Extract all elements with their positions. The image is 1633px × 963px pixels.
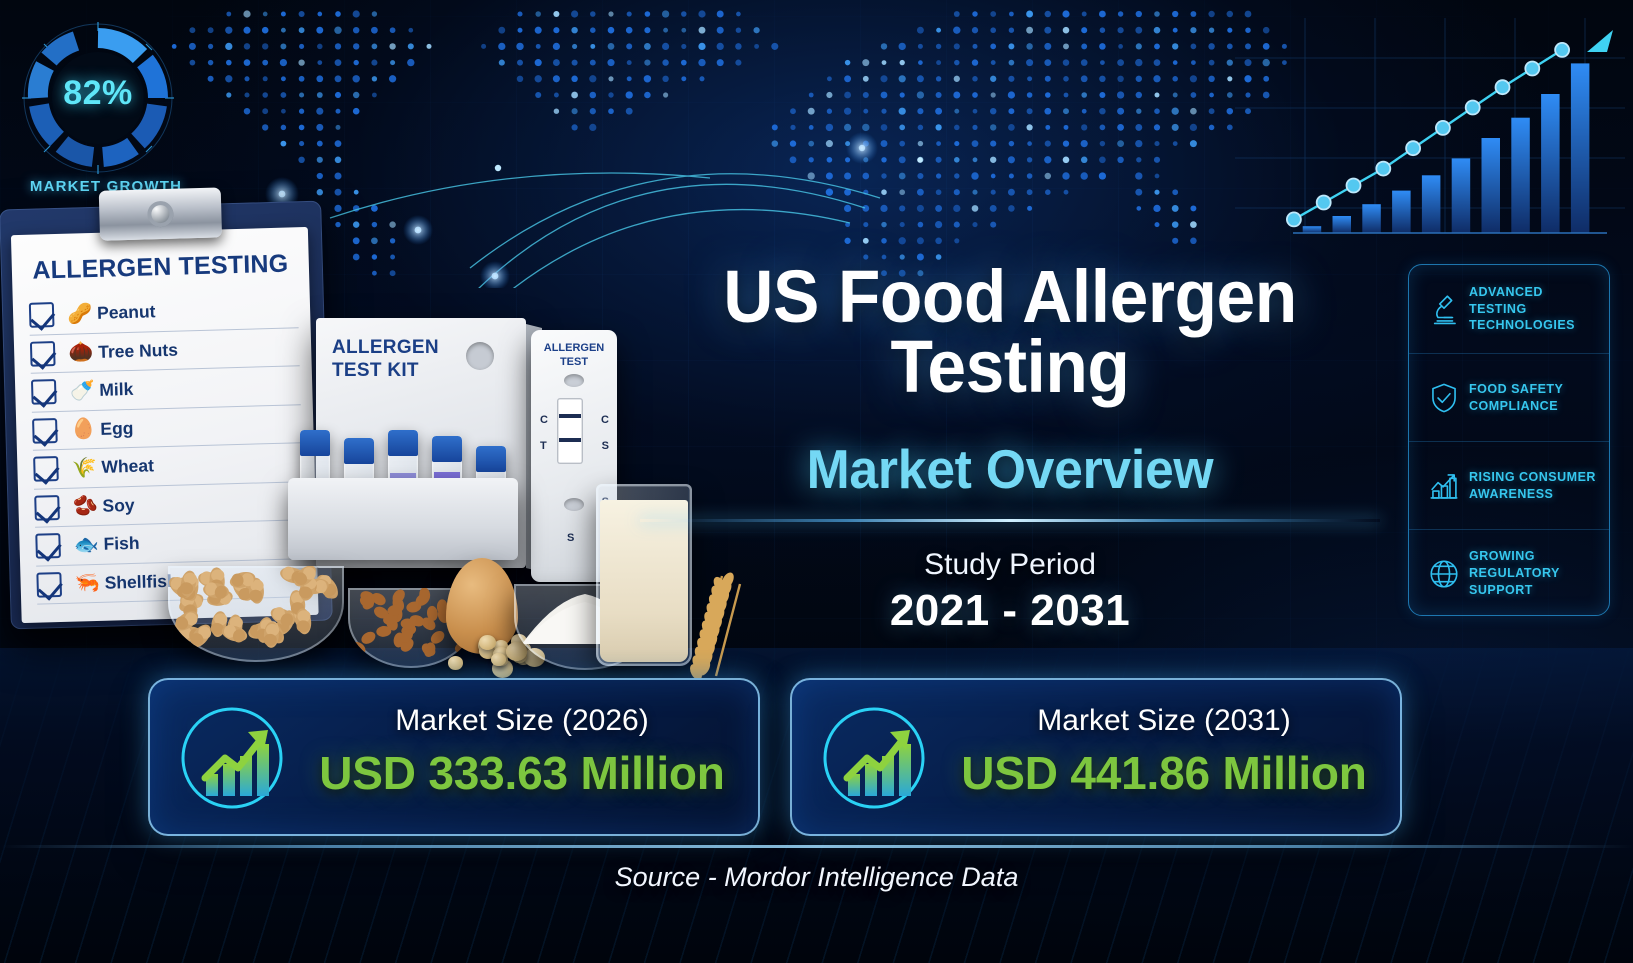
checkbox-checked-icon[interactable] — [35, 533, 61, 559]
page-title: US Food Allergen Testing — [681, 262, 1339, 403]
market-size-card-2031[interactable]: Market Size (2031) USD 441.86 Million — [790, 678, 1402, 836]
growth-chart-icon — [1419, 469, 1469, 503]
feature-item-1[interactable]: ADVANCED TESTING TECHNOLOGIES — [1409, 265, 1609, 353]
checkbox-checked-icon[interactable] — [33, 456, 59, 482]
shellfish-icon: 🦐 — [70, 573, 105, 594]
shield-check-icon — [1419, 381, 1469, 415]
soybean — [479, 635, 496, 650]
source-note: Source - Mordor Intelligence Data — [0, 862, 1633, 893]
checkbox-checked-icon[interactable] — [31, 379, 57, 405]
market-size-card-2026[interactable]: Market Size (2026) USD 333.63 Million — [148, 678, 760, 836]
checkbox-checked-icon[interactable] — [32, 418, 58, 444]
clipboard-title: ALLERGEN TESTING — [12, 249, 310, 286]
feature-item-3[interactable]: RISING CONSUMER AWARENESS — [1409, 441, 1609, 529]
strip-result-window — [557, 398, 583, 464]
rising-bar-chart-with-trend-arrow-icon — [1235, 18, 1625, 243]
globe-icon — [1419, 557, 1469, 591]
clipboard-clip — [99, 187, 222, 240]
checkbox-checked-icon[interactable] — [29, 302, 55, 328]
clipboard-paper: ALLERGEN TESTING 🥜Peanut🌰Tree Nuts🍼Milk🥚… — [11, 227, 319, 623]
map-connection-arcs — [150, 8, 1330, 288]
egg-icon: 🥚 — [66, 419, 101, 440]
feature-label: RISING CONSUMER AWARENESS — [1469, 469, 1601, 503]
strip-mark-s: S — [602, 440, 609, 452]
checkbox-checked-icon[interactable] — [30, 341, 56, 367]
market-card-label: Market Size (2031) — [942, 704, 1386, 738]
market-card-label: Market Size (2026) — [300, 704, 744, 738]
feature-label: GROWING REGULATORY SUPPORT — [1469, 548, 1601, 599]
allergen-label: Fish — [103, 533, 140, 555]
strip-sample-well-top — [564, 374, 584, 387]
title-line-2: Testing — [681, 332, 1339, 402]
strip-mark-c: C — [540, 414, 548, 426]
allergen-label: Peanut — [97, 302, 156, 325]
soybean-icon: 🫘 — [68, 496, 103, 517]
key-drivers-panel: ADVANCED TESTING TECHNOLOGIESFOOD SAFETY… — [1408, 264, 1610, 616]
microscope-icon — [1419, 292, 1469, 326]
market-growth-gauge: 82% MARKET GROWTH — [18, 18, 198, 196]
allergen-label: Milk — [99, 379, 134, 401]
test-kit-hole — [466, 342, 494, 370]
fish-icon: 🐟 — [69, 535, 104, 556]
title-line-1: US Food Allergen — [681, 262, 1339, 332]
test-kit-label: ALLERGENTEST KIT — [332, 336, 439, 382]
gauge-value: 82% — [18, 18, 178, 168]
walnut-icon: 🌰 — [64, 342, 99, 363]
market-card-value: USD 333.63 Million — [296, 746, 748, 800]
test-strip-label: ALLERGENTEST — [531, 342, 617, 370]
allergen-label: Tree Nuts — [98, 339, 178, 362]
market-card-value: USD 441.86 Million — [938, 746, 1390, 800]
allergen-label: Egg — [100, 418, 134, 440]
feature-label: ADVANCED TESTING TECHNOLOGIES — [1469, 284, 1601, 335]
wheat-stalks — [676, 556, 762, 678]
bottom-divider-glow — [0, 845, 1633, 848]
green-bar-chart-arrow-icon — [820, 704, 928, 812]
checkbox-checked-icon[interactable] — [34, 495, 60, 521]
allergen-label: Wheat — [101, 456, 154, 478]
feature-item-4[interactable]: GROWING REGULATORY SUPPORT — [1409, 529, 1609, 617]
study-period-label: Study Period — [780, 548, 1240, 582]
vial-rack — [288, 478, 518, 560]
wheat-icon: 🌾 — [67, 458, 102, 479]
allergen-list: 🥜Peanut🌰Tree Nuts🍼Milk🥚Egg🌾Wheat🫘Soy🐟Fis… — [29, 289, 306, 604]
strip-sample-well-bottom — [564, 498, 584, 511]
study-period-value: 2021 - 2031 — [780, 586, 1240, 636]
feature-label: FOOD SAFETY COMPLIANCE — [1469, 381, 1601, 415]
feature-item-2[interactable]: FOOD SAFETY COMPLIANCE — [1409, 353, 1609, 441]
peanut-icon: 🥜 — [63, 304, 98, 325]
checkbox-checked-icon[interactable] — [36, 572, 62, 598]
strip-mark-c2: C — [601, 414, 609, 426]
infographic-canvas: 82% MARKET GROWTH ALLERGEN TESTING 🥜Pean… — [0, 0, 1633, 963]
strip-mark-t: T — [540, 440, 547, 452]
allergen-label: Soy — [102, 495, 135, 517]
strip-mark-s3: S — [567, 532, 574, 544]
allergen-label: Shellfish — [104, 570, 177, 593]
green-bar-chart-arrow-icon — [178, 704, 286, 812]
title-divider — [640, 519, 1380, 522]
page-subtitle: Market Overview — [681, 437, 1339, 501]
milk-bottle-icon: 🍼 — [65, 381, 100, 402]
